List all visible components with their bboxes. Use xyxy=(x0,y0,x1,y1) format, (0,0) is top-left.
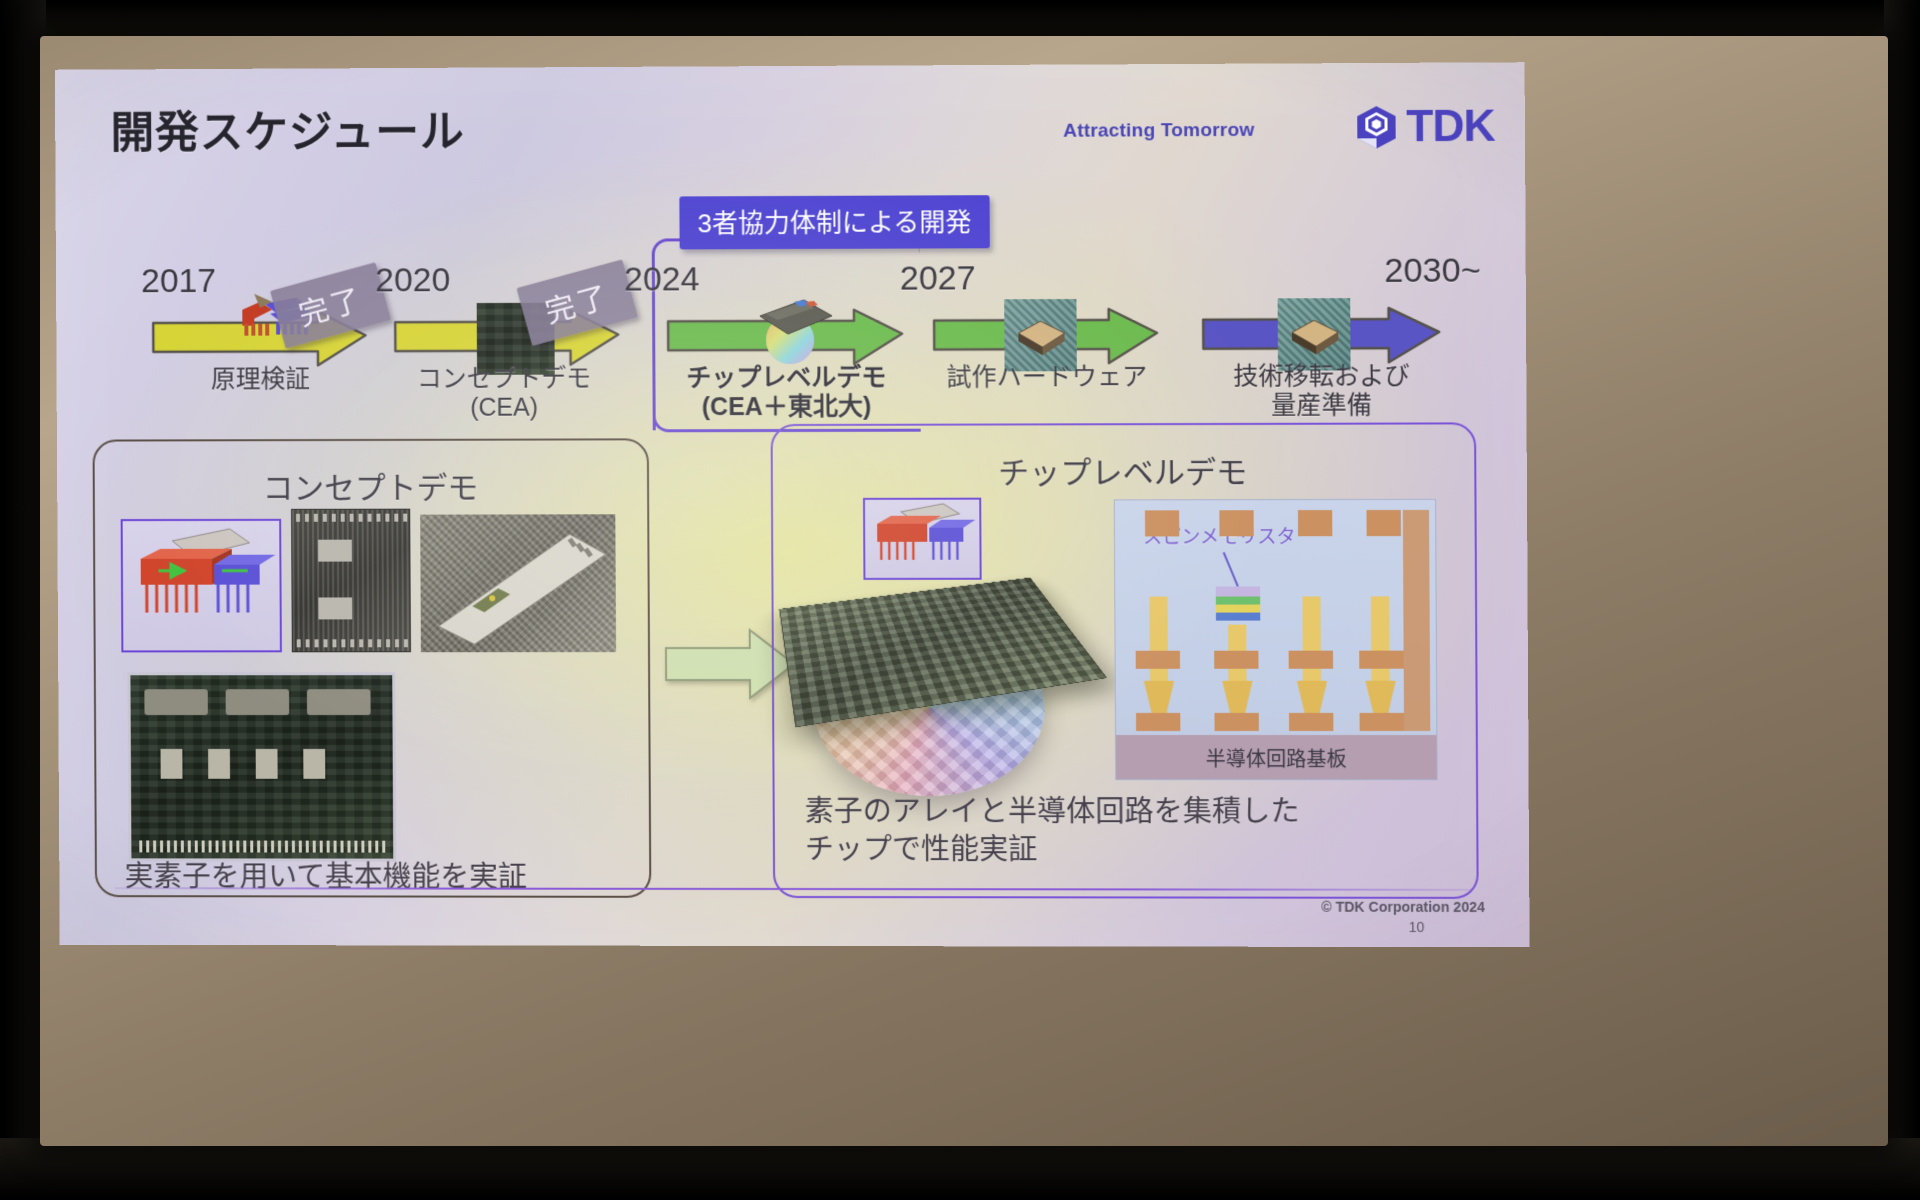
timeline-label-text-2030: 技術移転および xyxy=(1195,362,1447,392)
timeline-year-2027: 2027 xyxy=(900,259,976,298)
tdk-logo: TDK xyxy=(1354,105,1495,150)
concept-demo-panel: コンセプトデモ xyxy=(93,438,652,898)
chip-level-demo-caption-line2: チップで性能実証 xyxy=(805,832,1469,870)
timeline-year-2030: 2030~ xyxy=(1384,251,1481,291)
timeline-sublabel-2024: (CEA＋東北大) xyxy=(647,393,927,423)
chip-level-demo-caption-line1: 素子のアレイと半導体回路を集積した xyxy=(805,794,1469,832)
device-schematic-drawing xyxy=(123,521,282,653)
page-title: 開発スケジュール xyxy=(110,96,464,161)
timeline-year-2024: 2024 xyxy=(624,260,700,299)
chip-cube-icon-2030 xyxy=(1278,298,1351,371)
brand-tagline: Attracting Tomorrow xyxy=(1063,120,1254,143)
tdk-diamond-icon xyxy=(1354,105,1399,149)
page-number: 10 xyxy=(1409,919,1425,935)
chip-level-demo-panel: チップレベルデモ xyxy=(771,422,1479,899)
chip-array-wafer-composite xyxy=(781,497,1103,808)
die-package-drawing xyxy=(420,514,616,652)
packaged-chip-thumbnail-2027 xyxy=(1004,299,1077,371)
packaged-chip-thumbnail-2030 xyxy=(1278,298,1351,371)
chip-cube-icon-2027 xyxy=(1004,299,1077,371)
device-schematic-image xyxy=(121,519,282,653)
development-timeline: 3者協力体制による開発 2017 xyxy=(56,213,1527,418)
timeline-sublabel-2030: 量産準備 xyxy=(1196,391,1448,421)
timeline-label-text-2017: 原理検証 xyxy=(211,365,310,393)
timeline-label-2024: チップレベルデモ (CEA＋東北大) xyxy=(646,364,926,423)
timeline-label-2027: 試作ハードウェア xyxy=(922,363,1171,393)
semiconductor-substrate-label: 半導体回路基板 xyxy=(1116,735,1437,779)
tdk-wordmark: TDK xyxy=(1406,105,1495,150)
cross-section-diagram: スピンメモリスタ xyxy=(1114,499,1438,780)
evaluation-board-photo xyxy=(127,672,396,861)
chip-micrograph-image xyxy=(291,509,411,653)
timeline-label-text-2027: 試作ハードウェア xyxy=(922,363,1171,393)
status-stamp-2017: 完了 xyxy=(270,262,391,348)
timeline-year-2020: 2020 xyxy=(375,261,450,300)
room-wall-right xyxy=(1884,0,1920,1200)
concept-demo-panel-title: コンセプトデモ xyxy=(95,462,648,508)
timeline-label-text-2020: コンセプトデモ xyxy=(380,364,629,394)
timeline-label-2030: 技術移転および 量産準備 xyxy=(1195,362,1447,421)
timeline-label-2020: コンセプトデモ (CEA) xyxy=(380,364,629,423)
concept-demo-caption: 実素子を用いて基本機能を実証 xyxy=(125,859,642,897)
timeline-year-2017: 2017 xyxy=(141,262,216,301)
die-package-photo xyxy=(420,514,616,652)
timeline-sublabel-2020: (CEA) xyxy=(380,393,629,423)
inset-device-schematic xyxy=(863,498,982,580)
collaboration-banner: 3者協力体制による開発 xyxy=(679,195,989,249)
photograph-background: 開発スケジュール Attracting Tomorrow TDK 3者協 xyxy=(0,0,1920,1200)
presentation-slide: 開発スケジュール Attracting Tomorrow TDK 3者協 xyxy=(53,66,1523,946)
chip-level-demo-caption: 素子のアレイと半導体回路を集積した チップで性能実証 xyxy=(805,794,1469,870)
timeline-label-text-2024: チップレベルデモ xyxy=(646,364,926,394)
copyright-notice: © TDK Corporation 2024 xyxy=(1321,899,1485,915)
chip-level-demo-panel-title: チップレベルデモ xyxy=(773,446,1475,493)
inset-device-drawing xyxy=(865,500,982,580)
chip-wafer-illustration-2024 xyxy=(744,288,836,368)
room-wall-bottom xyxy=(0,1138,1920,1200)
timeline-label-2017: 原理検証 xyxy=(151,365,369,394)
